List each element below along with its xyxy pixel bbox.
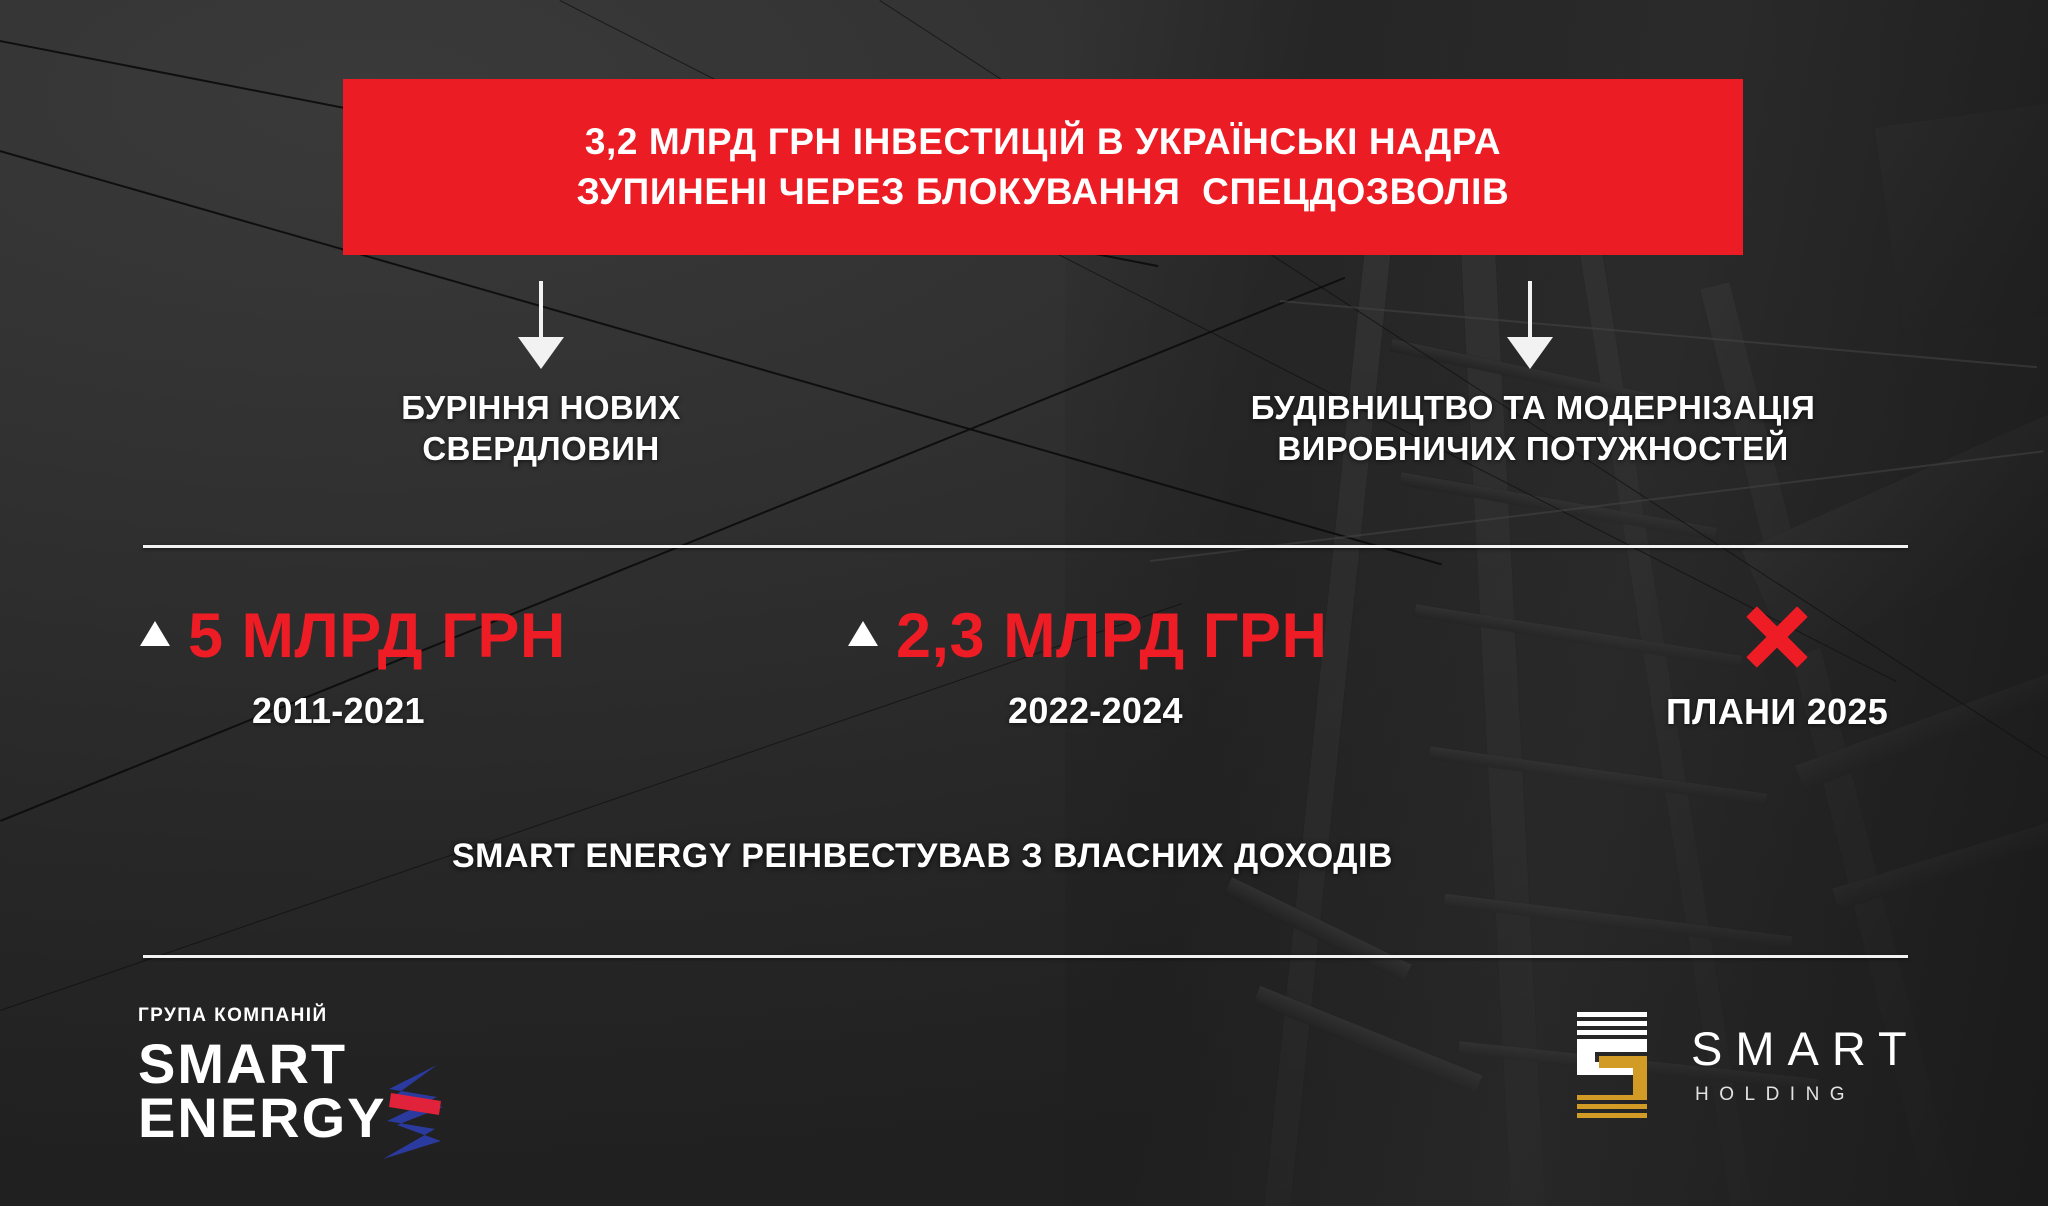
- stat-period: ПЛАНИ 2025: [1637, 691, 1917, 733]
- smart-holding-logo: SMART HOLDING: [1575, 1010, 1920, 1120]
- smart-energy-logo: ГРУПА КОМПАНІЙ SMART ENERGY: [138, 1005, 387, 1145]
- section-heading-capacity: БУДІВНИЦТВО ТА МОДЕРНІЗАЦІЯ ВИРОБНИЧИХ П…: [1128, 388, 1938, 470]
- stat-block-3: ПЛАНИ 2025: [1637, 605, 1917, 733]
- divider-bottom: [143, 955, 1908, 958]
- triangle-up-icon: [848, 621, 878, 646]
- down-arrow-icon-left: [518, 281, 564, 369]
- divider-top: [143, 545, 1908, 548]
- reinvestment-caption: SMART ENERGY РЕІНВЕСТУВАВ З ВЛАСНИХ ДОХО…: [452, 837, 1393, 876]
- smart-holding-word-top: SMART: [1691, 1025, 1920, 1072]
- section-heading-drilling: БУРІННЯ НОВИХ СВЕРДЛОВИН: [271, 388, 811, 470]
- smart-energy-ribbon-icon: [367, 1063, 445, 1165]
- down-arrow-icon-right: [1507, 281, 1553, 369]
- stat-period: 2011-2021: [252, 690, 566, 732]
- stat-block-1: 5 МЛРД ГРН 2011-2021: [140, 605, 566, 732]
- smart-energy-kicker: ГРУПА КОМПАНІЙ: [138, 1005, 387, 1027]
- stat-period: 2022-2024: [1008, 690, 1327, 732]
- infographic-canvas: 3,2 МЛРД ГРН ІНВЕСТИЦІЙ В УКРАЇНСЬКІ НАД…: [0, 0, 2048, 1206]
- headline-line-1: 3,2 МЛРД ГРН ІНВЕСТИЦІЙ В УКРАЇНСЬКІ НАД…: [585, 120, 1501, 164]
- stat-block-2: 2,3 МЛРД ГРН 2022-2024: [848, 605, 1327, 732]
- smart-energy-word-top: SMART: [138, 1037, 387, 1091]
- smart-holding-word-sub: HOLDING: [1695, 1084, 1920, 1106]
- headline-line-2: ЗУПИНЕНІ ЧЕРЕЗ БЛОКУВАННЯ СПЕЦДОЗВОЛІВ: [577, 170, 1510, 214]
- triangle-up-icon: [140, 621, 170, 646]
- headline-banner: 3,2 МЛРД ГРН ІНВЕСТИЦІЙ В УКРАЇНСЬКІ НАД…: [343, 79, 1743, 255]
- smart-energy-word-bottom: ENERGY: [138, 1091, 387, 1145]
- smart-holding-s-icon: [1575, 1010, 1657, 1120]
- stat-value: 2,3 МЛРД ГРН: [896, 605, 1327, 668]
- stat-value: 5 МЛРД ГРН: [188, 605, 566, 668]
- cross-icon: [1745, 605, 1809, 669]
